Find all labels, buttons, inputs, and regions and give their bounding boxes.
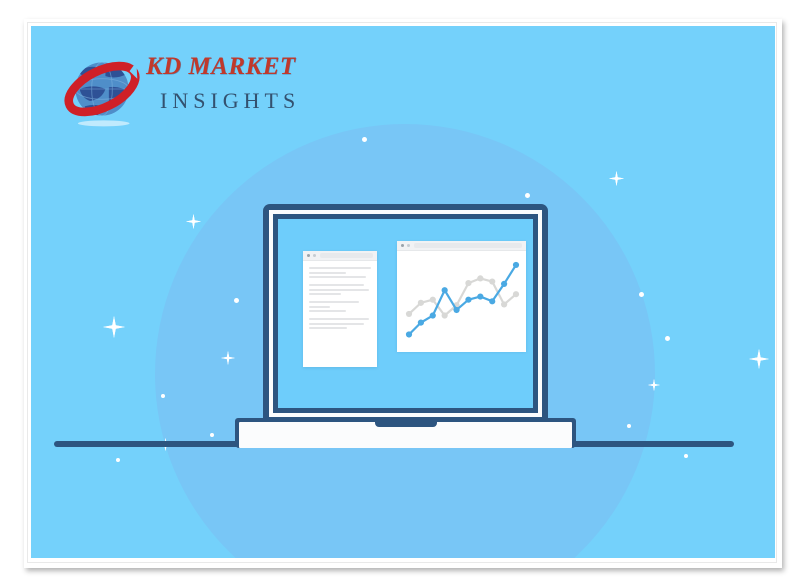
chart-data-point (406, 331, 412, 337)
sparkle-star (103, 316, 125, 338)
window-dot-light-icon (313, 254, 316, 257)
chart-data-point (477, 293, 483, 299)
laptop-trackpad-notch (375, 422, 437, 427)
window-dot-light-icon (407, 244, 410, 247)
chart-data-point (489, 278, 495, 284)
window-dot-dark-icon (401, 244, 404, 247)
laptop-illustration (207, 204, 603, 474)
chart-data-point (418, 300, 424, 306)
text-line (309, 293, 341, 295)
sparkle-star (609, 171, 624, 186)
sparkle-star (749, 349, 769, 369)
illustration-artboard: KD MARKET INSIGHTS (31, 26, 775, 558)
document-body (303, 261, 377, 329)
line-chart-svg (397, 251, 526, 352)
chart-data-point (501, 301, 507, 307)
chart-data-point (453, 307, 459, 313)
text-line (309, 284, 364, 286)
sparkle-dot (116, 458, 120, 462)
text-line (309, 276, 366, 278)
window-title-bar (303, 251, 377, 261)
brand-wordmark: KD MARKET INSIGHTS (146, 54, 326, 112)
chart-data-point (430, 297, 436, 303)
text-paragraph (309, 284, 371, 295)
text-paragraph (309, 318, 371, 329)
text-paragraph (309, 301, 371, 312)
chart-data-point (477, 275, 483, 281)
laptop-screen-bezel (273, 214, 538, 413)
chart-data-point (418, 320, 424, 326)
brand-logo: KD MARKET INSIGHTS (41, 34, 311, 144)
poster-canvas: KD MARKET INSIGHTS (0, 0, 800, 587)
window-dot-dark-icon (307, 254, 310, 257)
sparkle-dot (665, 336, 670, 341)
chart-line-gray (409, 278, 516, 315)
laptop-screen (278, 219, 533, 408)
sparkle-dot (684, 454, 688, 458)
brand-name-secondary: INSIGHTS (160, 90, 326, 112)
text-line (309, 289, 369, 291)
text-paragraph (309, 267, 371, 278)
laptop-lid (263, 204, 548, 423)
text-line (309, 323, 364, 325)
chart-window (397, 241, 526, 351)
text-line (309, 318, 369, 320)
chart-data-point (406, 311, 412, 317)
document-window (303, 251, 377, 367)
globe-swoosh-icon (59, 46, 145, 132)
text-line (309, 310, 346, 312)
chart-data-point (442, 287, 448, 293)
text-line (309, 272, 346, 274)
chart-data-point (442, 312, 448, 318)
chart-data-point (513, 262, 519, 268)
laptop-lid-inner (269, 210, 542, 417)
text-line (309, 306, 330, 308)
laptop-base (235, 418, 576, 448)
brand-name-primary: KD MARKET (146, 54, 326, 79)
sparkle-star (186, 214, 201, 229)
chart-data-point (465, 297, 471, 303)
chart-data-point (465, 280, 471, 286)
chart-line-blue (409, 265, 516, 335)
text-line (309, 327, 347, 329)
text-line (309, 267, 371, 269)
line-chart (397, 251, 526, 352)
chart-data-point (489, 298, 495, 304)
window-tab-strip (414, 243, 522, 248)
window-tab-strip (320, 253, 373, 258)
window-title-bar (397, 241, 526, 251)
chart-data-point (430, 312, 436, 318)
text-line (309, 301, 359, 303)
chart-data-point (501, 281, 507, 287)
laptop-base-surface (239, 422, 572, 448)
chart-data-point (513, 291, 519, 297)
